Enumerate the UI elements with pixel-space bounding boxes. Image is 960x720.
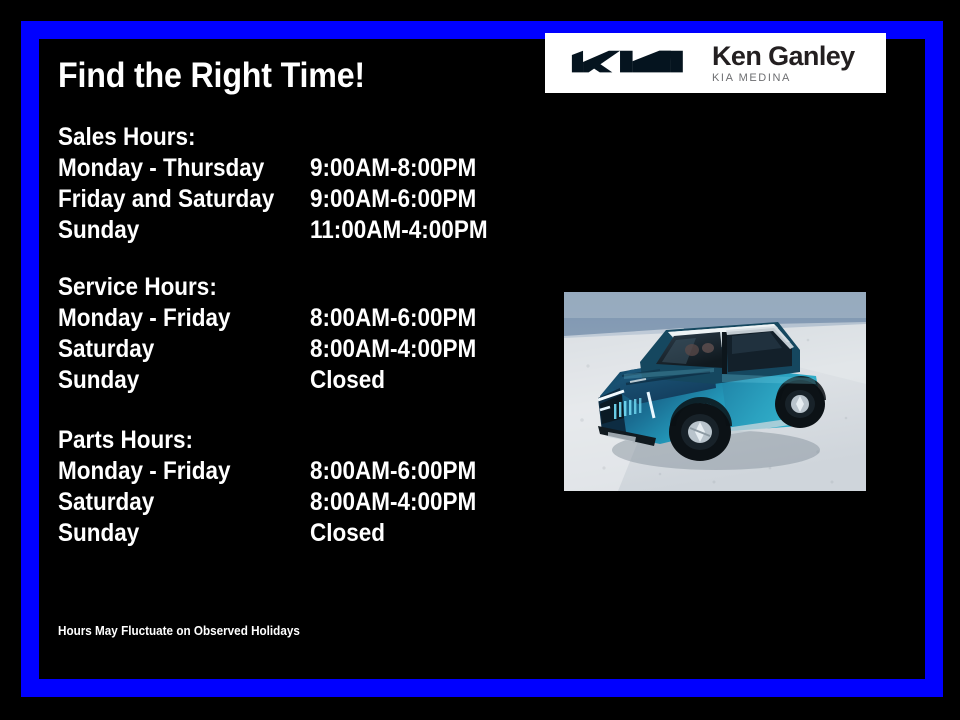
hours-row: Monday - Friday 8:00AM-6:00PM bbox=[58, 456, 495, 487]
hours-days: Monday - Thursday bbox=[58, 153, 285, 184]
hours-days: Sunday bbox=[58, 215, 285, 246]
hours-row: Friday and Saturday 9:00AM-6:00PM bbox=[58, 184, 507, 215]
hours-heading-service: Service Hours: bbox=[58, 272, 451, 303]
dealer-name: Ken Ganley bbox=[712, 42, 855, 70]
hours-row: Monday - Friday 8:00AM-6:00PM bbox=[58, 303, 495, 334]
hours-times: 11:00AM-4:00PM bbox=[310, 215, 488, 246]
hours-times: 8:00AM-6:00PM bbox=[310, 303, 476, 334]
hours-days: Friday and Saturday bbox=[58, 184, 285, 215]
hours-block-sales: Sales Hours: Monday - Thursday 9:00AM-8:… bbox=[58, 122, 507, 246]
hours-times: 8:00AM-6:00PM bbox=[310, 456, 476, 487]
hours-times: 9:00AM-6:00PM bbox=[310, 184, 476, 215]
dealer-logo-text: Ken Ganley KIA MEDINA bbox=[712, 42, 855, 85]
hours-heading-sales: Sales Hours: bbox=[58, 122, 462, 153]
hours-times: Closed bbox=[310, 365, 385, 396]
disclaimer-text: Hours May Fluctuate on Observed Holidays bbox=[58, 623, 300, 638]
vehicle-photo-illustration bbox=[564, 292, 866, 491]
hours-days: Sunday bbox=[58, 518, 285, 549]
hours-times: Closed bbox=[310, 518, 385, 549]
hours-row: Sunday Closed bbox=[58, 365, 495, 396]
hours-row: Monday - Thursday 9:00AM-8:00PM bbox=[58, 153, 507, 184]
hours-row: Saturday 8:00AM-4:00PM bbox=[58, 487, 495, 518]
hours-times: 8:00AM-4:00PM bbox=[310, 334, 476, 365]
hours-times: 8:00AM-4:00PM bbox=[310, 487, 476, 518]
vehicle-photo bbox=[564, 292, 866, 491]
hours-heading-parts: Parts Hours: bbox=[58, 425, 451, 456]
hours-days: Saturday bbox=[58, 334, 285, 365]
hours-row: Saturday 8:00AM-4:00PM bbox=[58, 334, 495, 365]
hours-days: Saturday bbox=[58, 487, 285, 518]
hours-block-service: Service Hours: Monday - Friday 8:00AM-6:… bbox=[58, 272, 495, 396]
hours-row: Sunday Closed bbox=[58, 518, 495, 549]
slide-canvas: Find the Right Time! Sales Hours: Monday… bbox=[0, 0, 960, 720]
hours-block-parts: Parts Hours: Monday - Friday 8:00AM-6:00… bbox=[58, 425, 495, 549]
page-title: Find the Right Time! bbox=[58, 56, 365, 96]
hours-times: 9:00AM-8:00PM bbox=[310, 153, 476, 184]
hours-days: Monday - Friday bbox=[58, 456, 285, 487]
kia-logo-icon bbox=[567, 48, 687, 78]
dealer-logo-panel: Ken Ganley KIA MEDINA bbox=[545, 33, 886, 93]
hours-row: Sunday 11:00AM-4:00PM bbox=[58, 215, 507, 246]
hours-days: Monday - Friday bbox=[58, 303, 285, 334]
dealer-subtitle: KIA MEDINA bbox=[712, 71, 855, 85]
hours-days: Sunday bbox=[58, 365, 285, 396]
